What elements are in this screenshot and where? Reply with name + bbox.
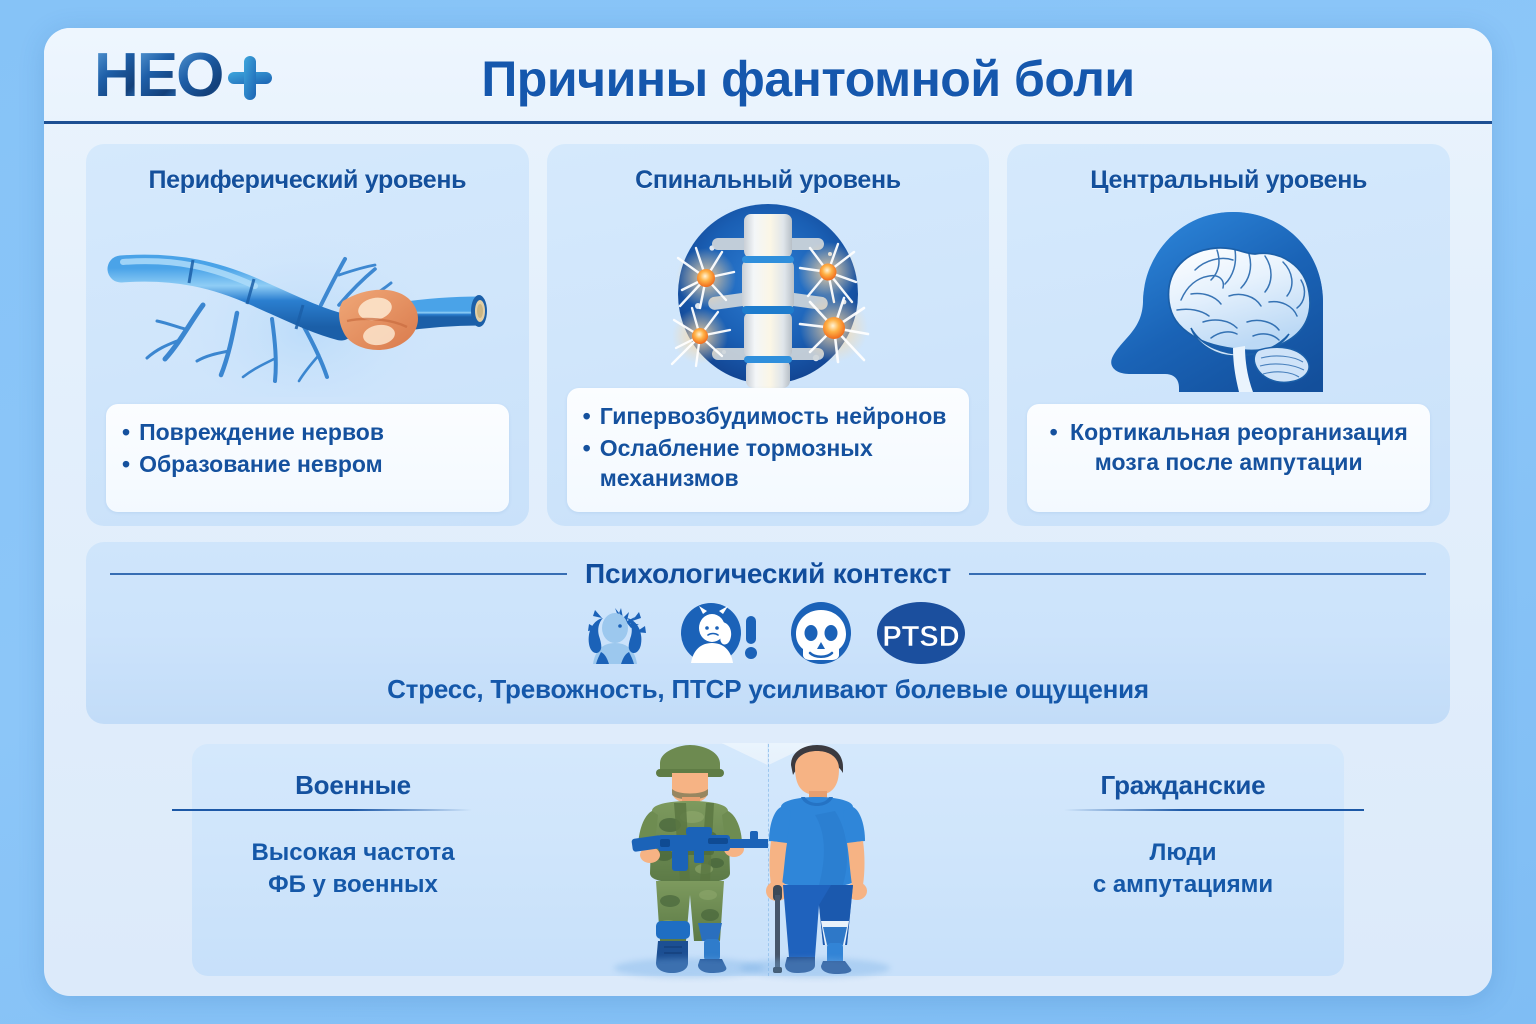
civilian-with-cane-and-prosthetic-leg-figure: [715, 745, 915, 980]
bullet-dot: •: [583, 402, 591, 432]
psychological-context-section: Психологический контекст: [86, 542, 1450, 724]
group-desc-line2: ФБ у военных: [228, 869, 478, 901]
bullet-text: Образование невром: [139, 450, 383, 480]
list-item: • Повреждение нервов: [122, 418, 493, 448]
group-text-block: Военные Высокая частота ФБ у военных: [228, 770, 478, 900]
bullet-dot: •: [122, 418, 130, 448]
levels-row: Периферический уровень: [86, 144, 1450, 526]
psych-header: Психологический контекст: [86, 558, 1450, 590]
group-description: Высокая частота ФБ у военных: [228, 837, 478, 900]
skull-icon: [781, 602, 861, 664]
psych-caption: Стресс, Тревожность, ПТСР усиливают боле…: [86, 674, 1450, 705]
poster-header: Н Е О Причины фантомной боли: [44, 28, 1492, 124]
stressed-person-icon: [569, 602, 661, 664]
group-rule: [1064, 809, 1364, 811]
psych-title: Психологический контекст: [585, 558, 951, 590]
level-title: Спинальный уровень: [635, 166, 901, 195]
bullet-text: Кортикальная реорганизация мозга после а…: [1070, 419, 1408, 475]
group-desc-line1: Люди: [1149, 839, 1216, 866]
level-card-central: Центральный уровень: [1007, 144, 1450, 526]
spinal-cord-firing-neurons-illustration: [561, 201, 976, 388]
page-title: Причины фантомной боли: [44, 50, 1492, 108]
bullet-text: Гипервозбудимость нейронов: [600, 402, 947, 432]
level-bullets: • Гипервозбудимость нейронов • Ослаблени…: [567, 388, 970, 512]
bullet-dot: •: [122, 450, 130, 480]
brain-head-profile-illustration: [1021, 201, 1436, 404]
infographic-poster: Н Е О Причины фантомной боли Периферичес…: [44, 28, 1492, 996]
rule-right: [969, 573, 1426, 575]
level-card-peripheral: Периферический уровень: [86, 144, 529, 526]
level-bullets: • Повреждение нервов • Образование невро…: [106, 404, 509, 512]
list-item: • Кортикальная реорганизация мозга после…: [1043, 418, 1414, 478]
level-title: Центральный уровень: [1090, 166, 1367, 195]
group-title: Военные: [228, 770, 478, 801]
group-panel-military: Военные Высокая частота ФБ у военных: [192, 744, 768, 976]
level-title: Периферический уровень: [148, 166, 466, 195]
list-item: • Гипервозбудимость нейронов: [583, 402, 954, 432]
level-card-spinal: Спинальный уровень: [547, 144, 990, 526]
list-item: • Образование невром: [122, 450, 493, 480]
damaged-nerve-neuroma-illustration: [100, 201, 515, 404]
rule-left: [110, 573, 567, 575]
psych-icons-row: PTSD: [86, 600, 1450, 666]
ptsd-label: PTSD: [882, 621, 959, 653]
bullet-dot: •: [583, 434, 591, 494]
bullet-dot: •: [1050, 419, 1058, 445]
list-item: • Ослабление тормозных механизмов: [583, 434, 954, 494]
group-panel-civilian: Гражданские Люди с ампутациями: [768, 744, 1345, 976]
bullet-text: Повреждение нервов: [139, 418, 384, 448]
ptsd-badge-icon: PTSD: [875, 602, 967, 664]
level-bullets: • Кортикальная реорганизация мозга после…: [1027, 404, 1430, 512]
figure-shadow: [740, 958, 890, 978]
group-rule: [172, 809, 472, 811]
group-title: Гражданские: [1058, 770, 1308, 801]
group-desc-line2: с ампутациями: [1058, 869, 1308, 901]
group-desc-line1: Высокая частота: [251, 839, 454, 866]
group-text-block: Гражданские Люди с ампутациями: [1058, 770, 1308, 900]
affected-groups-section: Военные Высокая частота ФБ у военных: [192, 744, 1344, 976]
anxious-person-exclamation-icon: [675, 602, 767, 664]
bullet-text: Ослабление тормозных механизмов: [600, 434, 954, 494]
group-description: Люди с ампутациями: [1058, 837, 1308, 900]
